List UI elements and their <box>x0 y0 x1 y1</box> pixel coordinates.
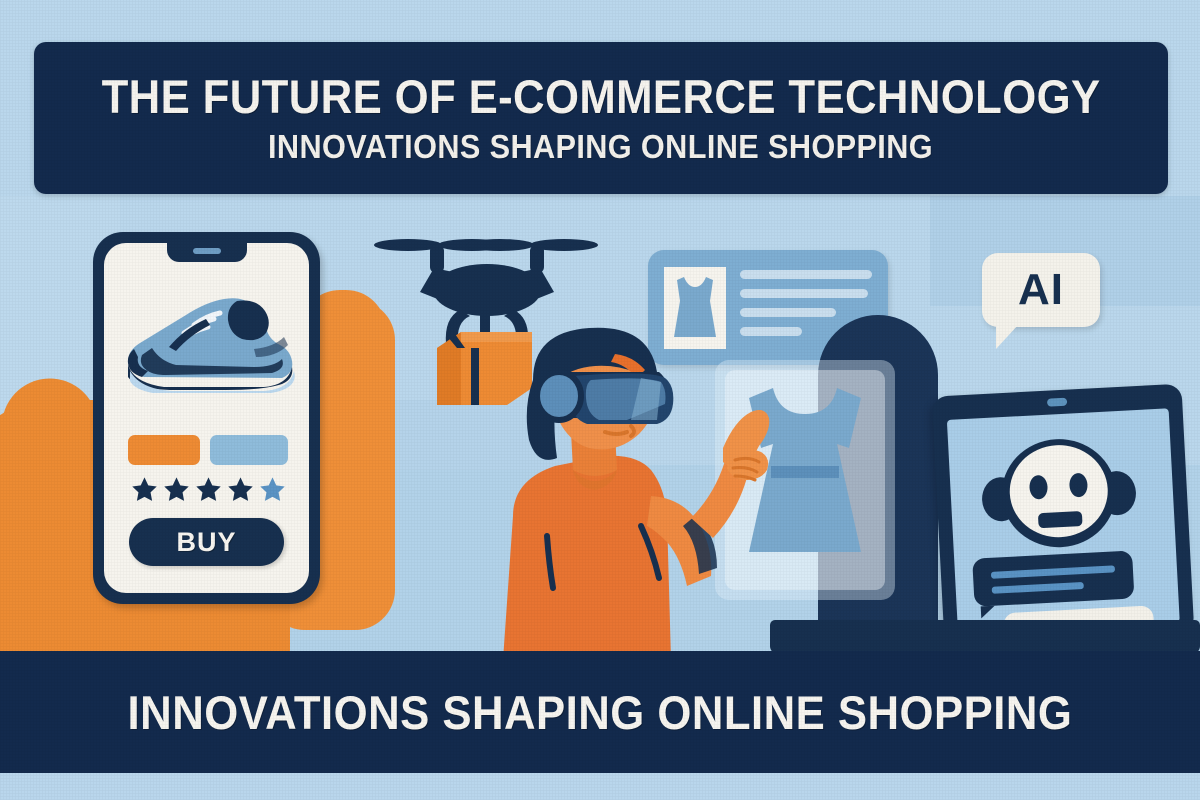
sneaker-icon <box>114 285 300 393</box>
star-rating[interactable] <box>130 475 287 504</box>
ai-badge-label: AI <box>1018 268 1064 312</box>
poster-bottom-edge <box>0 773 1200 800</box>
bot-message-line-1 <box>991 565 1115 578</box>
vr-shopper-figure <box>455 320 785 660</box>
detail-line-2 <box>740 289 868 298</box>
star-icon-filled-3 <box>194 475 223 504</box>
detail-line-1 <box>740 270 872 279</box>
sneaker-product-image <box>114 285 300 393</box>
ai-badge-bubble: AI <box>982 253 1100 327</box>
footer-banner: INNOVATIONS SHAPING ONLINE SHOPPING <box>0 651 1200 773</box>
phone-speaker <box>193 248 221 254</box>
color-swatch-blue[interactable] <box>210 435 288 465</box>
laptop-camera <box>1047 398 1067 407</box>
bot-message-bubble <box>972 550 1134 606</box>
detail-line-3 <box>740 308 836 317</box>
variant-chip-row <box>128 435 288 465</box>
star-icon-empty-5 <box>258 475 287 504</box>
star-icon-filled-4 <box>226 475 255 504</box>
ai-chatbot-avatar <box>976 432 1142 555</box>
laptop-device[interactable] <box>932 384 1195 647</box>
color-swatch-orange[interactable] <box>128 435 200 465</box>
smartphone[interactable]: BUY <box>93 232 320 604</box>
buy-button[interactable]: BUY <box>129 518 284 566</box>
buy-button-label: BUY <box>176 527 236 558</box>
phone-screen: BUY <box>104 243 309 593</box>
laptop-screen <box>947 408 1180 633</box>
robot-face-icon <box>976 432 1142 555</box>
laptop-base <box>770 620 1200 654</box>
page-subtitle: INNOVATIONS SHAPING ONLINE SHOPPING <box>269 130 934 163</box>
ecommerce-future-poster: THE FUTURE OF E-COMMERCE TECHNOLOGY INNO… <box>0 0 1200 800</box>
page-title: THE FUTURE OF E-COMMERCE TECHNOLOGY <box>102 73 1101 120</box>
footer-caption: INNOVATIONS SHAPING ONLINE SHOPPING <box>128 689 1073 736</box>
header-banner: THE FUTURE OF E-COMMERCE TECHNOLOGY INNO… <box>34 42 1168 194</box>
woman-vr-illustration <box>455 320 785 660</box>
bot-message-line-2 <box>992 582 1084 594</box>
star-icon-filled-1 <box>130 475 159 504</box>
star-icon-filled-2 <box>162 475 191 504</box>
